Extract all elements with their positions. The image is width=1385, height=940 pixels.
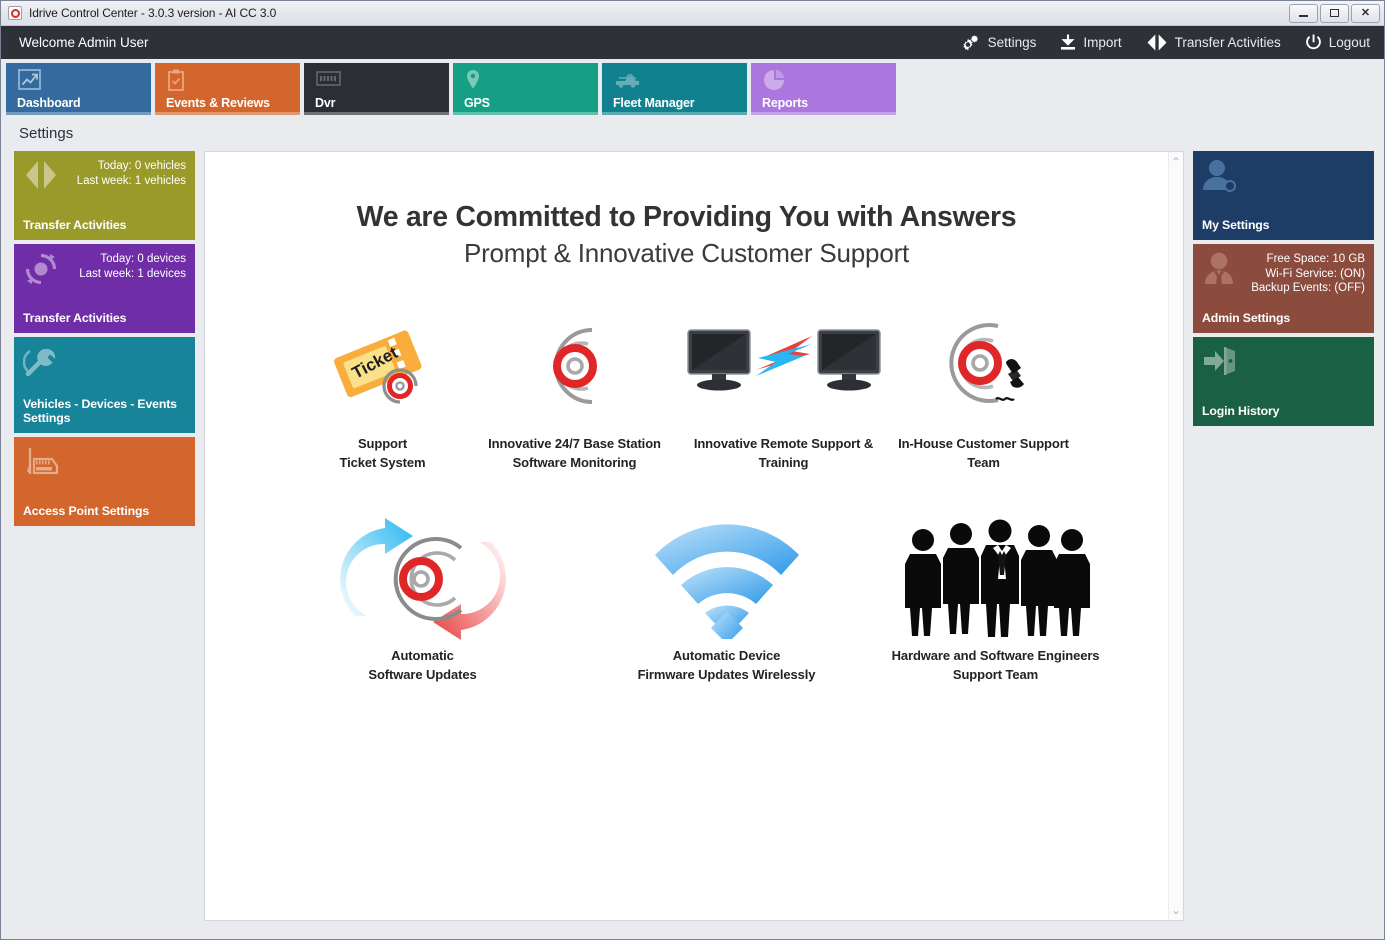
scroll-up-icon[interactable]: ⌃ bbox=[1171, 156, 1181, 168]
transfer-arrows-icon bbox=[23, 159, 59, 196]
tab-reports[interactable]: Reports bbox=[751, 63, 896, 115]
feature-support-ticket-system: Ticket Support bbox=[295, 311, 471, 473]
page-headline: We are Committed to Providing You with A… bbox=[205, 200, 1168, 234]
tab-events-reviews[interactable]: Events & Reviews bbox=[155, 63, 300, 115]
tab-dashboard-active-indicator bbox=[6, 112, 151, 115]
title-bar: Idrive Control Center - 3.0.3 version - … bbox=[1, 1, 1384, 26]
ticket-icon: Ticket bbox=[330, 311, 436, 421]
tab-dvr-label: Dvr bbox=[315, 96, 335, 110]
feature-automatic-software-updates: Automatic Software Updates bbox=[273, 515, 573, 685]
maximize-button[interactable] bbox=[1320, 4, 1349, 23]
breadcrumb: Settings bbox=[19, 125, 73, 142]
wifi-icon bbox=[649, 515, 805, 643]
caption-line: Software Monitoring bbox=[488, 454, 661, 473]
tile-access-point-settings[interactable]: Access Point Settings bbox=[14, 437, 195, 526]
tile-stat-line: Last week: 1 devices bbox=[79, 267, 186, 282]
caption-line: Support Team bbox=[892, 666, 1100, 685]
main-panel: We are Committed to Providing You with A… bbox=[204, 151, 1184, 921]
clipboard-check-icon bbox=[167, 69, 185, 96]
header-transfer-activities-button[interactable]: Transfer Activities bbox=[1146, 34, 1281, 51]
tab-fleet-manager[interactable]: Fleet Manager bbox=[602, 63, 747, 115]
tab-reports-indicator bbox=[751, 112, 896, 115]
window-controls: ✕ bbox=[1289, 4, 1382, 23]
main-vertical-scrollbar[interactable]: ⌃ ⌄ bbox=[1168, 152, 1183, 920]
map-pin-icon bbox=[465, 69, 481, 96]
tile-title: Login History bbox=[1202, 404, 1365, 419]
caption-line: Support bbox=[340, 435, 426, 454]
feature-caption: Automatic Device Firmware Updates Wirele… bbox=[638, 647, 816, 685]
radar-target-icon bbox=[532, 311, 618, 421]
people-group-icon bbox=[898, 515, 1094, 643]
tab-dvr-indicator bbox=[304, 112, 449, 115]
tile-title: Access Point Settings bbox=[23, 504, 186, 519]
header-actions: Settings Import Transf bbox=[961, 34, 1370, 52]
tile-stats: Today: 0 devices Last week: 1 devices bbox=[79, 252, 186, 281]
tab-reports-label: Reports bbox=[762, 96, 808, 110]
header-import-button[interactable]: Import bbox=[1060, 34, 1121, 51]
window-bottom-edge bbox=[1, 933, 1384, 939]
tile-stat-line: Today: 0 devices bbox=[79, 252, 186, 267]
header-import-label: Import bbox=[1083, 35, 1121, 50]
tile-title: Transfer Activities bbox=[23, 218, 186, 233]
caption-line: Team bbox=[898, 454, 1069, 473]
tile-title: Vehicles - Devices - Events Settings bbox=[23, 397, 186, 427]
tab-gps-label: GPS bbox=[464, 96, 490, 110]
feature-row-1: Ticket Support bbox=[205, 311, 1168, 473]
tile-transfer-activities-devices[interactable]: Today: 0 devices Last week: 1 devices Tr… bbox=[14, 244, 195, 333]
feature-caption: In-House Customer Support Team bbox=[898, 435, 1069, 473]
chart-line-icon bbox=[18, 69, 42, 96]
caption-line: Software Updates bbox=[368, 666, 476, 685]
tab-dashboard[interactable]: Dashboard bbox=[6, 63, 151, 115]
tab-dvr[interactable]: Dvr bbox=[304, 63, 449, 115]
welcome-text: Welcome Admin User bbox=[19, 35, 149, 50]
tab-fleet-manager-label: Fleet Manager bbox=[613, 96, 694, 110]
tile-stat-line: Free Space: 10 GB bbox=[1251, 252, 1365, 267]
header-transfer-activities-label: Transfer Activities bbox=[1175, 35, 1281, 50]
module-tab-bar: Dashboard Events & Reviews bbox=[1, 59, 1384, 115]
target-phone-icon bbox=[936, 311, 1032, 421]
caption-line: In-House Customer Support bbox=[898, 435, 1069, 454]
tile-title: My Settings bbox=[1202, 218, 1365, 233]
breadcrumb-bar: Settings bbox=[1, 115, 1384, 151]
feature-base-station-monitoring: Innovative 24/7 Base Station Software Mo… bbox=[471, 311, 679, 473]
tile-stats: Free Space: 10 GB Wi-Fi Service: (ON) Ba… bbox=[1251, 252, 1365, 296]
refresh-target-icon bbox=[333, 515, 513, 643]
caption-line: Training bbox=[694, 454, 873, 473]
wrench-icon bbox=[23, 345, 59, 384]
top-header-bar: Welcome Admin User Settings bbox=[1, 26, 1384, 59]
caption-line: Automatic bbox=[368, 647, 476, 666]
vehicles-icon bbox=[614, 69, 641, 94]
tile-stat-line: Backup Events: (OFF) bbox=[1251, 281, 1365, 296]
scroll-down-icon[interactable]: ⌄ bbox=[1171, 904, 1181, 916]
page-subheadline: Prompt & Innovative Customer Support bbox=[205, 238, 1168, 269]
feature-caption: Automatic Software Updates bbox=[368, 647, 476, 685]
close-button[interactable]: ✕ bbox=[1351, 4, 1380, 23]
feature-row-2: Automatic Software Updates bbox=[205, 515, 1168, 685]
tile-title: Transfer Activities bbox=[23, 311, 186, 326]
tile-title: Admin Settings bbox=[1202, 311, 1365, 326]
minimize-button[interactable] bbox=[1289, 4, 1318, 23]
tile-stat-line: Last week: 1 vehicles bbox=[77, 174, 186, 189]
feature-caption: Hardware and Software Engineers Support … bbox=[892, 647, 1100, 685]
support-overview: We are Committed to Providing You with A… bbox=[205, 152, 1168, 685]
gears-icon bbox=[961, 34, 981, 52]
header-logout-label: Logout bbox=[1329, 35, 1370, 50]
left-tile-column: Today: 0 vehicles Last week: 1 vehicles … bbox=[14, 151, 195, 921]
window-title: Idrive Control Center - 3.0.3 version - … bbox=[29, 6, 276, 20]
tab-gps-indicator bbox=[453, 112, 598, 115]
power-icon bbox=[1305, 34, 1322, 51]
tile-my-settings[interactable]: My Settings bbox=[1193, 151, 1374, 240]
tile-stats: Today: 0 vehicles Last week: 1 vehicles bbox=[77, 159, 186, 188]
tab-gps[interactable]: GPS bbox=[453, 63, 598, 115]
feature-hardware-software-engineers: Hardware and Software Engineers Support … bbox=[881, 515, 1111, 685]
header-settings-label: Settings bbox=[988, 35, 1037, 50]
tile-vehicles-devices-events-settings[interactable]: Vehicles - Devices - Events Settings bbox=[14, 337, 195, 433]
device-sync-icon bbox=[23, 252, 59, 291]
tile-admin-settings[interactable]: Free Space: 10 GB Wi-Fi Service: (ON) Ba… bbox=[1193, 244, 1374, 333]
dvr-icon bbox=[316, 69, 341, 94]
feature-caption: Innovative 24/7 Base Station Software Mo… bbox=[488, 435, 661, 473]
application-window: Idrive Control Center - 3.0.3 version - … bbox=[0, 0, 1385, 940]
tab-events-reviews-indicator bbox=[155, 112, 300, 115]
transfer-arrows-icon bbox=[1146, 34, 1168, 51]
feature-caption: Innovative Remote Support & Training bbox=[694, 435, 873, 473]
feature-automatic-device-firmware-updates: Automatic Device Firmware Updates Wirele… bbox=[573, 515, 881, 685]
content-area: Today: 0 vehicles Last week: 1 vehicles … bbox=[1, 151, 1384, 933]
router-icon bbox=[23, 445, 63, 482]
admin-user-icon bbox=[1202, 252, 1236, 291]
caption-line: Innovative 24/7 Base Station bbox=[488, 435, 661, 454]
tile-login-history[interactable]: Login History bbox=[1193, 337, 1374, 426]
caption-line: Innovative Remote Support & bbox=[694, 435, 873, 454]
feature-caption: Support Ticket System bbox=[340, 435, 426, 473]
caption-line: Ticket System bbox=[340, 454, 426, 473]
pie-chart-icon bbox=[763, 69, 785, 96]
tab-dashboard-label: Dashboard bbox=[17, 96, 81, 110]
right-tile-column: My Settings Free Space: 10 GB Wi-Fi Serv… bbox=[1193, 151, 1374, 921]
caption-line: Hardware and Software Engineers bbox=[892, 647, 1100, 666]
tile-stat-line: Wi-Fi Service: (ON) bbox=[1251, 267, 1365, 282]
main-scroll-viewport: We are Committed to Providing You with A… bbox=[205, 152, 1168, 920]
header-logout-button[interactable]: Logout bbox=[1305, 34, 1370, 51]
caption-line: Automatic Device bbox=[638, 647, 816, 666]
two-monitors-icon bbox=[684, 311, 884, 421]
tab-events-reviews-label: Events & Reviews bbox=[166, 96, 270, 110]
tab-fleet-manager-indicator bbox=[602, 112, 747, 115]
tile-stat-line: Today: 0 vehicles bbox=[77, 159, 186, 174]
feature-in-house-support-team: In-House Customer Support Team bbox=[889, 311, 1079, 473]
tile-transfer-activities-vehicles[interactable]: Today: 0 vehicles Last week: 1 vehicles … bbox=[14, 151, 195, 240]
user-settings-icon bbox=[1202, 159, 1238, 198]
download-icon bbox=[1060, 34, 1076, 51]
login-arrow-icon bbox=[1202, 345, 1238, 382]
caption-line: Firmware Updates Wirelessly bbox=[638, 666, 816, 685]
feature-remote-support-training: Innovative Remote Support & Training bbox=[679, 311, 889, 473]
app-icon bbox=[7, 5, 23, 21]
header-settings-button[interactable]: Settings bbox=[961, 34, 1037, 52]
